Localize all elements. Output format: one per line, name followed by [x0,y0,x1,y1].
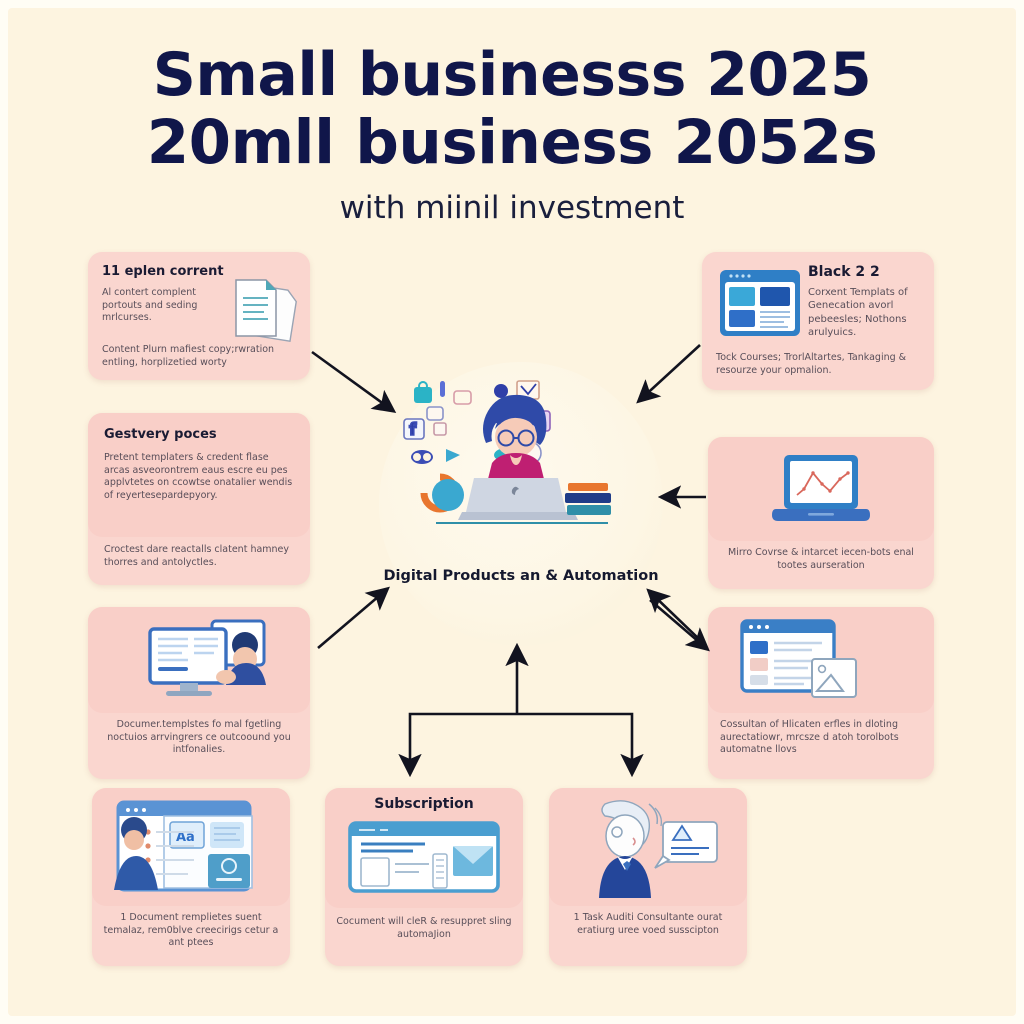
hub-label: Digital Products an & Automation [379,568,663,584]
card-document-templates[interactable]: Aa 1 Document remplietes suent temalaz, … [92,788,290,966]
card-consultant-flows-caption: Cossultan of Hlicaten erfles in dloting … [720,719,922,757]
card-black-foot: Tock Courses; TrorlAltartes, Tankaging &… [716,352,924,377]
card-micro-course[interactable]: Mirro Covrse & intarcet iecen-bots enal … [708,437,934,589]
card-consultant-flows[interactable]: Cossultan of Hlicaten erfles in dloting … [708,607,934,779]
card-black-title: Black 2 2 [808,264,926,280]
card-document-automation-caption: Documer.templstes fo mal fgetling noctui… [98,719,300,757]
card-ai-content-title: 11 eplen corrent [102,264,232,279]
woman-at-laptop-illustration: f [400,375,642,560]
card-templates-title: Gestvery poces [104,427,296,442]
card-subscription-caption: Cocument will cleR & resuppret sling aut… [335,916,513,941]
monitor-person-icon [144,615,272,709]
card-templates[interactable]: Gestvery poces Pretent templaters & cred… [88,413,310,585]
card-black-body: Corxent Templats of Genecation avorl peb… [808,286,926,340]
card-ai-content-foot: Content Plurn mafiest copy;rwration entl… [102,344,298,369]
card-document-templates-caption: 1 Document remplietes suent temalaz, rem… [100,912,282,950]
card-subscription[interactable]: Subscription Cocument will cleR & resupp… [325,788,523,966]
title-line-1: Small businesss 2025 [0,42,1024,109]
laptop-chart-icon [770,451,872,529]
title-line-2: 20mll business 2052s [0,109,1024,177]
card-task-audit-consultant[interactable]: 1 Task Auditi Consultante ourat eratiurg… [549,788,747,966]
card-document-automation[interactable]: Documer.templstes fo mal fgetling noctui… [88,607,310,779]
documents-icon [228,274,302,346]
page-subtitle: with miinil investment [0,190,1024,226]
person-checklist-icon: Aa [108,796,274,904]
browser-image-icon [738,617,866,707]
page-title: Small businesss 2025 20mll business 2052… [0,42,1024,226]
card-templates-body: Pretent templaters & credent flase arcas… [104,452,296,503]
dashboard-window-icon [718,268,802,338]
svg-text:f: f [409,420,417,440]
card-task-audit-caption: 1 Task Auditi Consultante ourat eratiurg… [559,912,737,937]
email-newsletter-icon [347,820,501,894]
consultant-person-icon [579,794,721,902]
card-ai-content[interactable]: 11 eplen corrent Al contert complent por… [88,252,310,380]
card-ai-content-body: Al contert complent portouts and seding … [102,287,232,325]
card-black-2-2[interactable]: Black 2 2 Corxent Templats of Genecation… [702,252,934,390]
infographic-canvas: Small businesss 2025 20mll business 2052… [0,0,1024,1024]
card-subscription-title: Subscription [325,796,523,812]
card-templates-foot: Croctest dare reactalls clatent hamney t… [104,544,296,569]
card-micro-course-caption: Mirro Covrse & intarcet iecen-bots enal … [720,547,922,572]
